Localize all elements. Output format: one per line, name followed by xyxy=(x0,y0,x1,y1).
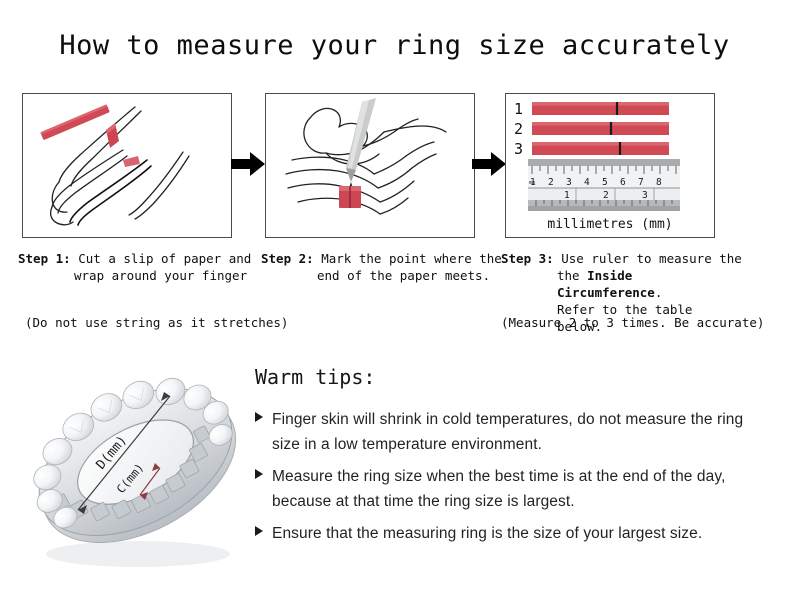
step-2-line2: end of the paper meets. xyxy=(261,267,503,284)
tip-text: Measure the ring size when the best time… xyxy=(272,464,767,514)
svg-text:2: 2 xyxy=(548,177,554,188)
step-1-illustration-panel xyxy=(22,93,232,238)
arrow-step2-to-step3 xyxy=(472,150,506,178)
step-3-illustration-panel: 1 2 3 xyxy=(505,93,715,238)
page-title: How to measure your ring size accurately xyxy=(0,30,789,61)
svg-text:4: 4 xyxy=(584,177,590,188)
svg-text:7: 7 xyxy=(638,177,644,188)
svg-text:8: 8 xyxy=(656,177,662,188)
strip-label-1: 1 xyxy=(514,100,523,118)
tip-item: Finger skin will shrink in cold temperat… xyxy=(255,407,767,457)
infographic-page: How to measure your ring size accurately xyxy=(0,0,789,606)
step-3-line2-tail: . xyxy=(655,285,663,300)
step-3-line2: the Inside Circumference. xyxy=(501,267,743,301)
step-1-note: (Do not use string as it stretches) xyxy=(25,314,288,331)
tip-text: Ensure that the measuring ring is the si… xyxy=(272,521,702,546)
ring-diagram: D(mm) C(mm) xyxy=(18,358,253,583)
svg-text:1: 1 xyxy=(564,190,570,201)
triangle-bullet-icon xyxy=(255,412,263,422)
warm-tips-heading: Warm tips: xyxy=(255,365,767,389)
step-2-illustration-panel xyxy=(265,93,475,238)
svg-text:3: 3 xyxy=(642,190,648,201)
step-2-line1: Mark the point where the xyxy=(321,251,502,266)
step-1-caption: Step 1: Cut a slip of paper and wrap aro… xyxy=(18,250,260,284)
step-2-label: Step 2: xyxy=(261,251,314,266)
tip-item: Measure the ring size when the best time… xyxy=(255,464,767,514)
step-3-note: (Measure 2 to 3 times. Be accurate) xyxy=(501,314,764,331)
step-3-label: Step 3: xyxy=(501,251,554,266)
warm-tips-section: Warm tips: Finger skin will shrink in co… xyxy=(255,365,767,553)
triangle-bullet-icon xyxy=(255,526,263,536)
step-1-label: Step 1: xyxy=(18,251,71,266)
step-2-caption: Step 2: Mark the point where the end of … xyxy=(261,250,503,284)
arrow-step1-to-step2 xyxy=(231,150,265,178)
svg-text:6: 6 xyxy=(620,177,626,188)
svg-text:5: 5 xyxy=(602,177,608,188)
tip-item: Ensure that the measuring ring is the si… xyxy=(255,521,767,546)
strip-label-3: 3 xyxy=(514,140,523,158)
svg-text:3: 3 xyxy=(566,177,572,188)
tip-text: Finger skin will shrink in cold temperat… xyxy=(272,407,767,457)
strip-label-2: 2 xyxy=(514,120,523,138)
step-3-line1: Use ruler to measure the xyxy=(561,251,742,266)
step-1-line1: Cut a slip of paper and xyxy=(78,251,251,266)
measured-paper-strips xyxy=(532,102,669,155)
ruler-unit-mm-mark: mm xyxy=(529,180,535,186)
triangle-bullet-icon xyxy=(255,469,263,479)
step-3-line2-prefix: the xyxy=(557,268,587,283)
step-1-line2: wrap around your finger xyxy=(18,267,260,284)
ruler-shape: 123 456 78 mm 123 xyxy=(528,159,680,211)
svg-text:2: 2 xyxy=(603,190,609,201)
ruler-unit-caption: millimetres (mm) xyxy=(547,217,672,232)
